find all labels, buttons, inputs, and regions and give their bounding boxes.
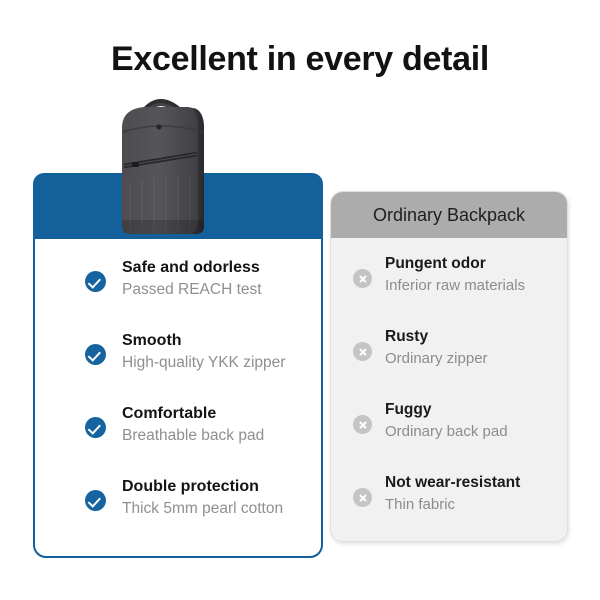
x-circle-icon bbox=[353, 342, 372, 361]
list-item-subtitle: Passed REACH test bbox=[122, 279, 262, 301]
list-item-text: Comfortable Breathable back pad bbox=[122, 403, 264, 446]
list-item-title: Rusty bbox=[385, 327, 488, 348]
comparison-infographic: Excellent in every detail Ordinary Backp… bbox=[0, 0, 600, 600]
list-item-title: Comfortable bbox=[122, 403, 264, 425]
list-item-text: Double protection Thick 5mm pearl cotton bbox=[122, 476, 283, 519]
list-item-title: Double protection bbox=[122, 476, 283, 498]
x-circle-icon bbox=[353, 269, 372, 288]
list-item-subtitle: Thin fabric bbox=[385, 494, 520, 515]
list-item-subtitle: Breathable back pad bbox=[122, 425, 264, 447]
list-item-text: Fuggy Ordinary back pad bbox=[385, 400, 508, 442]
check-circle-icon bbox=[85, 417, 106, 438]
x-circle-icon bbox=[353, 415, 372, 434]
list-item: Fuggy Ordinary back pad bbox=[331, 400, 567, 473]
list-item-title: Fuggy bbox=[385, 400, 508, 421]
list-item-subtitle: Thick 5mm pearl cotton bbox=[122, 498, 283, 520]
page-title: Excellent in every detail bbox=[0, 40, 600, 79]
list-item-text: Pungent odor Inferior raw materials bbox=[385, 254, 525, 296]
check-circle-icon bbox=[85, 271, 106, 292]
check-circle-icon bbox=[85, 344, 106, 365]
list-item-text: Smooth High-quality YKK zipper bbox=[122, 330, 285, 373]
ordinary-panel-header: Ordinary Backpack bbox=[331, 192, 567, 238]
list-item: Smooth High-quality YKK zipper bbox=[35, 330, 321, 403]
list-item-title: Not wear-resistant bbox=[385, 473, 520, 494]
list-item-subtitle: Inferior raw materials bbox=[385, 275, 525, 296]
list-item-subtitle: Ordinary back pad bbox=[385, 421, 508, 442]
list-item: Safe and odorless Passed REACH test bbox=[35, 257, 321, 330]
check-circle-icon bbox=[85, 490, 106, 511]
our-feature-list: Safe and odorless Passed REACH test Smoo… bbox=[35, 239, 321, 549]
list-item: Double protection Thick 5mm pearl cotton bbox=[35, 476, 321, 549]
list-item-text: Rusty Ordinary zipper bbox=[385, 327, 488, 369]
backpack-illustration bbox=[104, 92, 226, 238]
list-item: Not wear-resistant Thin fabric bbox=[331, 473, 567, 542]
list-item-title: Smooth bbox=[122, 330, 285, 352]
list-item-title: Safe and odorless bbox=[122, 257, 262, 279]
ordinary-feature-list: Pungent odor Inferior raw materials Rust… bbox=[331, 238, 567, 542]
list-item-title: Pungent odor bbox=[385, 254, 525, 275]
list-item: Comfortable Breathable back pad bbox=[35, 403, 321, 476]
list-item: Rusty Ordinary zipper bbox=[331, 327, 567, 400]
list-item-text: Safe and odorless Passed REACH test bbox=[122, 257, 262, 300]
list-item-subtitle: High-quality YKK zipper bbox=[122, 352, 285, 374]
ordinary-backpack-panel: Ordinary Backpack Pungent odor Inferior … bbox=[330, 191, 568, 542]
ordinary-panel-title: Ordinary Backpack bbox=[373, 205, 525, 226]
list-item: Pungent odor Inferior raw materials bbox=[331, 254, 567, 327]
list-item-text: Not wear-resistant Thin fabric bbox=[385, 473, 520, 515]
our-panel-body: Safe and odorless Passed REACH test Smoo… bbox=[33, 237, 323, 558]
x-circle-icon bbox=[353, 488, 372, 507]
list-item-subtitle: Ordinary zipper bbox=[385, 348, 488, 369]
